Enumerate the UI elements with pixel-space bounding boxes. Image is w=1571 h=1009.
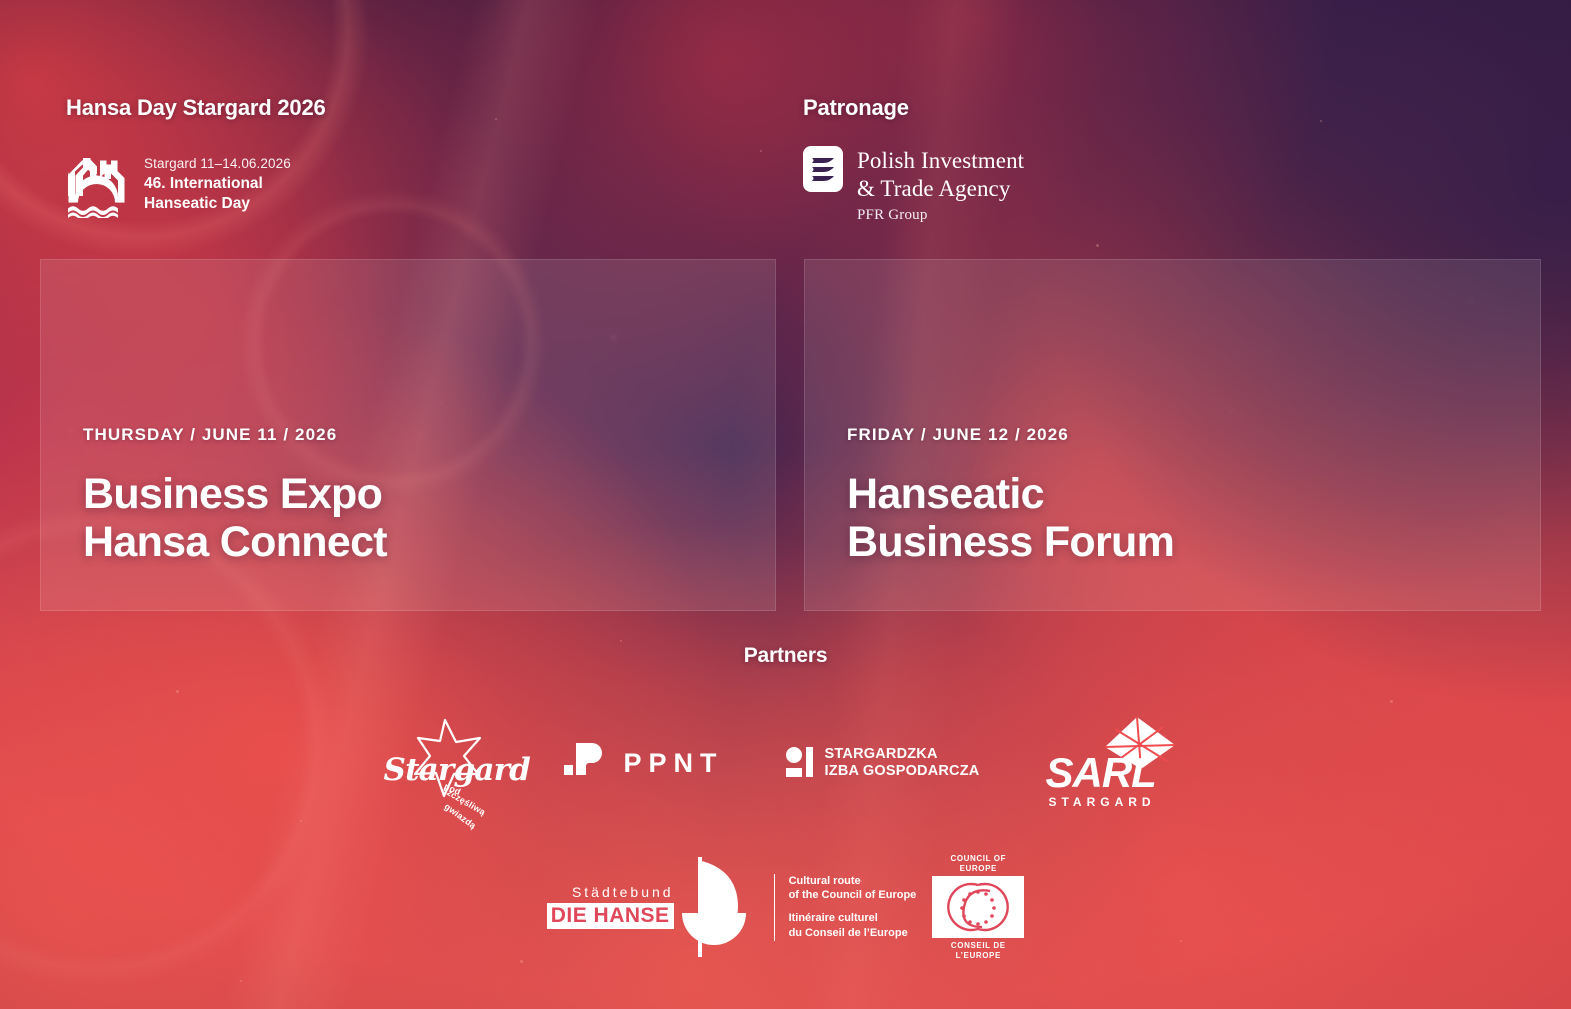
partner-logo-stargardzka-izba-gospodarcza[interactable]: STARGARDZKA IZBA GOSPODARCZA: [784, 746, 980, 781]
partner-cultural-route-text: Cultural route of the Council of Europe …: [774, 874, 917, 941]
pfr-logo-lockup: Polish Investment & Trade Agency PFR Gro…: [803, 146, 1024, 224]
coe-stars-emblem-icon: [946, 881, 1010, 933]
hansa-logo-name-line2: Hanseatic Day: [144, 194, 291, 215]
hansa-logo-name-line1: 46. International: [144, 174, 291, 195]
day-card-heading: Hanseatic Business Forum: [847, 471, 1540, 566]
patronage-title: Patronage: [803, 95, 1024, 121]
ppnt-wordmark: PPNT: [624, 748, 724, 779]
sarl-wordmark: SARL: [1045, 749, 1155, 797]
day-card-heading: Business Expo Hansa Connect: [83, 471, 775, 566]
hansa-logo-date: Stargard 11–14.06.2026: [144, 154, 291, 174]
hansa-day-block: Hansa Day Stargard 2026: [66, 95, 326, 218]
stargard-wordmark: Stargard: [384, 752, 531, 788]
hansa-logo-text: Stargard 11–14.06.2026 46. International…: [144, 146, 291, 215]
pfr-logo-text: Polish Investment & Trade Agency PFR Gro…: [857, 146, 1024, 224]
coe-caption-bottom: CONSEIL DE L’EUROPE: [932, 941, 1024, 960]
pfr-sub: PFR Group: [857, 207, 1024, 224]
hanse-bottom-word: DIE HANSE: [547, 903, 674, 929]
ppnt-blocks-icon: [562, 741, 608, 785]
coe-caption-top: COUNCIL OF EUROPE: [932, 854, 1024, 873]
izba-line-1: STARGARDZKA: [825, 746, 980, 763]
partners-title: Partners: [0, 644, 1571, 668]
izba-dot-bar-icon: [784, 746, 814, 780]
day-card-date: THURSDAY / JUNE 11 / 2026: [83, 425, 775, 445]
day-card-business-expo[interactable]: THURSDAY / JUNE 11 / 2026 Business Expo …: [40, 259, 776, 611]
partner-logo-sarl-stargard[interactable]: SARL STARGARD: [1039, 719, 1189, 807]
sarl-sub: STARGARD: [1048, 795, 1155, 809]
hansa-logo-lockup: Stargard 11–14.06.2026 46. International…: [66, 146, 326, 218]
hanse-sail-icon: [668, 855, 760, 959]
coe-line-1: Cultural route: [789, 874, 917, 889]
partner-logo-die-hanse[interactable]: Städtebund DIE HANSE: [547, 855, 760, 959]
partners-section: Partners Stargard pod szczęśliwą gwiazdą: [0, 644, 1571, 960]
coe-line-4: du Conseil de l’Europe: [789, 926, 917, 941]
hansa-day-title: Hansa Day Stargard 2026: [66, 95, 326, 121]
day-card-hanseatic-business-forum[interactable]: FRIDAY / JUNE 12 / 2026 Hanseatic Busine…: [804, 259, 1541, 611]
pfr-name-line1: Polish Investment: [857, 147, 1024, 175]
partner-logo-ppnt[interactable]: PPNT: [562, 741, 724, 785]
hanseatic-gate-icon: [66, 146, 128, 218]
coe-line-2: of the Council of Europe: [789, 888, 917, 903]
patronage-block: Patronage Polish Investment & Trade Agen…: [803, 95, 1024, 224]
partners-row-primary: Stargard pod szczęśliwą gwiazdą: [0, 708, 1571, 818]
coe-line-3: Itinéraire culturel: [789, 911, 917, 926]
izba-line-2: IZBA GOSPODARCZA: [825, 763, 980, 780]
partners-row-secondary: Städtebund DIE HANSE: [0, 854, 1571, 960]
pfr-waves-icon: [803, 146, 843, 192]
pfr-name-line2: & Trade Agency: [857, 175, 1024, 203]
partner-logo-council-of-europe[interactable]: COUNCIL OF EUROPE: [932, 854, 1024, 960]
hanse-top-word: Städtebund: [547, 885, 674, 900]
partner-logo-stargard[interactable]: Stargard pod szczęśliwą gwiazdą: [382, 708, 502, 818]
day-card-date: FRIDAY / JUNE 12 / 2026: [847, 425, 1540, 445]
